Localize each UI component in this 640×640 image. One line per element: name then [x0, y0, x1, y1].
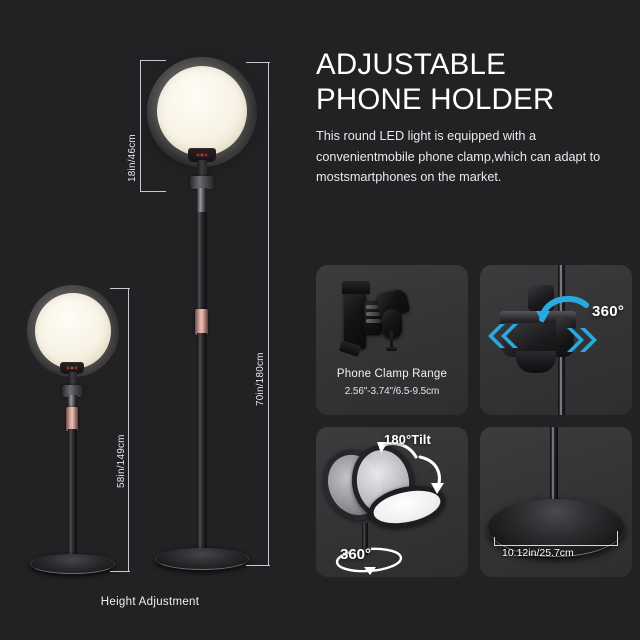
- card-360-rotation: 360°: [480, 265, 632, 415]
- dimension-head-diameter-label: 18in/46cm: [127, 134, 138, 182]
- page-title-line1: ADJUSTABLE: [316, 48, 636, 83]
- page-title: ADJUSTABLE PHONE HOLDER: [316, 48, 636, 117]
- control-led-dot: [71, 367, 73, 369]
- tall-lamp-lower-pole: [197, 333, 207, 556]
- tall-lamp-base-rim: [155, 548, 249, 570]
- dimension-tall-height-label: 70in/180cm: [255, 352, 266, 406]
- product-infographic: 18in/46cm 70in/180cm 58in/149cm Height A…: [0, 0, 640, 640]
- tilt-degree-label: 180°Tilt: [384, 432, 431, 447]
- short-lamp-base-rim: [30, 554, 115, 574]
- height-adjustment-caption: Height Adjustment: [0, 596, 300, 608]
- short-lamp-height-collar: [66, 407, 78, 431]
- clamp-range-title: Phone Clamp Range: [316, 368, 468, 380]
- rotate-right-chevrons-icon: [566, 327, 608, 353]
- control-led-dot: [205, 154, 207, 156]
- control-led-dot: [75, 367, 77, 369]
- tall-lamp-upper-pole: [197, 188, 207, 214]
- clamp-range-value: 2.56"-3.74"/6.5-9.5cm: [316, 386, 468, 397]
- tilt-card-rotation-label: 360°: [340, 546, 371, 563]
- tall-lamp-light-panel: [157, 66, 247, 156]
- height-adjustment-panel: 18in/46cm 70in/180cm 58in/149cm Height A…: [0, 0, 300, 640]
- control-led-dot: [197, 154, 199, 156]
- feature-grid: Phone Clamp Range 2.56"-3.74"/6.5-9.5cm: [316, 265, 632, 583]
- card-180-tilt: 180°Tilt 360°: [316, 427, 468, 577]
- card-base-diameter: 10.12in/25.7cm: [480, 427, 632, 577]
- tall-lamp-mid-pole: [196, 212, 207, 312]
- short-lamp-light-panel: [35, 293, 111, 369]
- rotate-left-chevrons-icon: [486, 323, 526, 349]
- card-phone-clamp-range: Phone Clamp Range 2.56"-3.74"/6.5-9.5cm: [316, 265, 468, 415]
- short-lamp-lower-pole: [68, 429, 77, 562]
- tilt-arrow-right-icon: [416, 453, 448, 495]
- control-led-dot: [67, 367, 69, 369]
- description-text: This round LED light is equipped with a …: [316, 126, 616, 188]
- tall-lamp-height-collar: [195, 309, 208, 335]
- base-diameter-label: 10.12in/25.7cm: [502, 547, 574, 559]
- page-title-line2: PHONE HOLDER: [316, 83, 636, 118]
- rotation-degree-label: 360°: [592, 303, 624, 320]
- dimension-short-height-label: 58in/149cm: [116, 434, 127, 488]
- rotation-arrow-icon: [534, 289, 592, 325]
- short-lamp-neck: [68, 372, 77, 386]
- control-led-dot: [201, 154, 203, 156]
